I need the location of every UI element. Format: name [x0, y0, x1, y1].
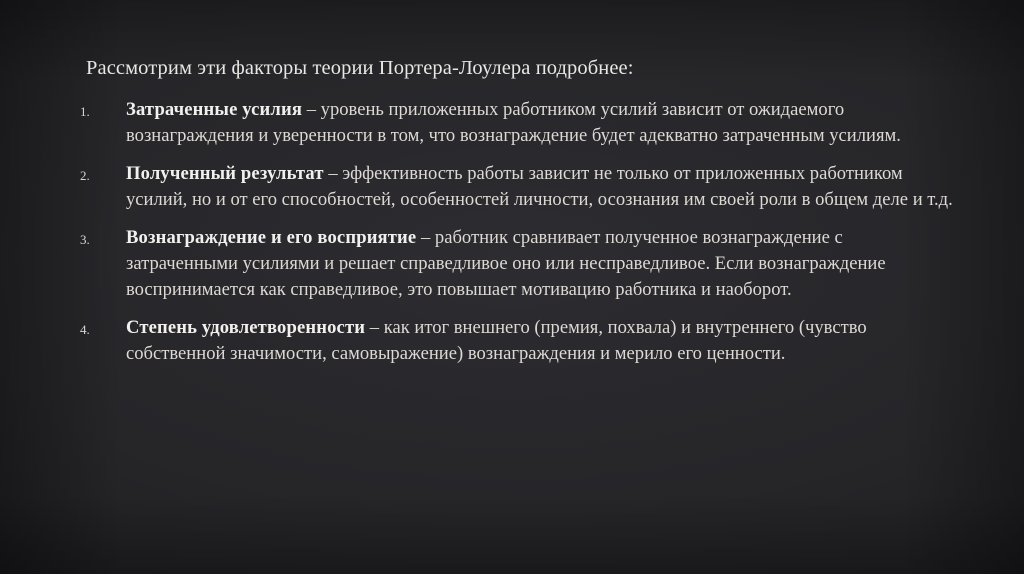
factors-list: 1. Затраченные усилия – уровень приложен… — [78, 97, 958, 366]
list-item-lead: Полученный результат — [126, 163, 324, 184]
list-item: 3. Вознаграждение и его восприятие – раб… — [78, 225, 958, 302]
list-item-marker: 2. — [80, 167, 108, 185]
presentation-slide: Рассмотрим эти факторы теории Портера-Ло… — [0, 0, 1024, 574]
list-item: 1. Затраченные усилия – уровень приложен… — [78, 97, 958, 148]
list-item: 4. Степень удовлетворенности – как итог … — [78, 315, 958, 366]
list-item-lead: Затраченные усилия — [126, 99, 302, 120]
list-item-marker: 1. — [80, 103, 108, 121]
list-item-marker: 3. — [80, 231, 108, 249]
slide-heading: Рассмотрим эти факторы теории Портера-Ло… — [86, 55, 966, 81]
list-item-marker: 4. — [80, 321, 108, 339]
list-item-lead: Степень удовлетворенности — [126, 317, 365, 338]
list-item-lead: Вознаграждение и его восприятие — [126, 227, 416, 248]
list-item: 2. Полученный результат – эффективность … — [78, 161, 958, 212]
